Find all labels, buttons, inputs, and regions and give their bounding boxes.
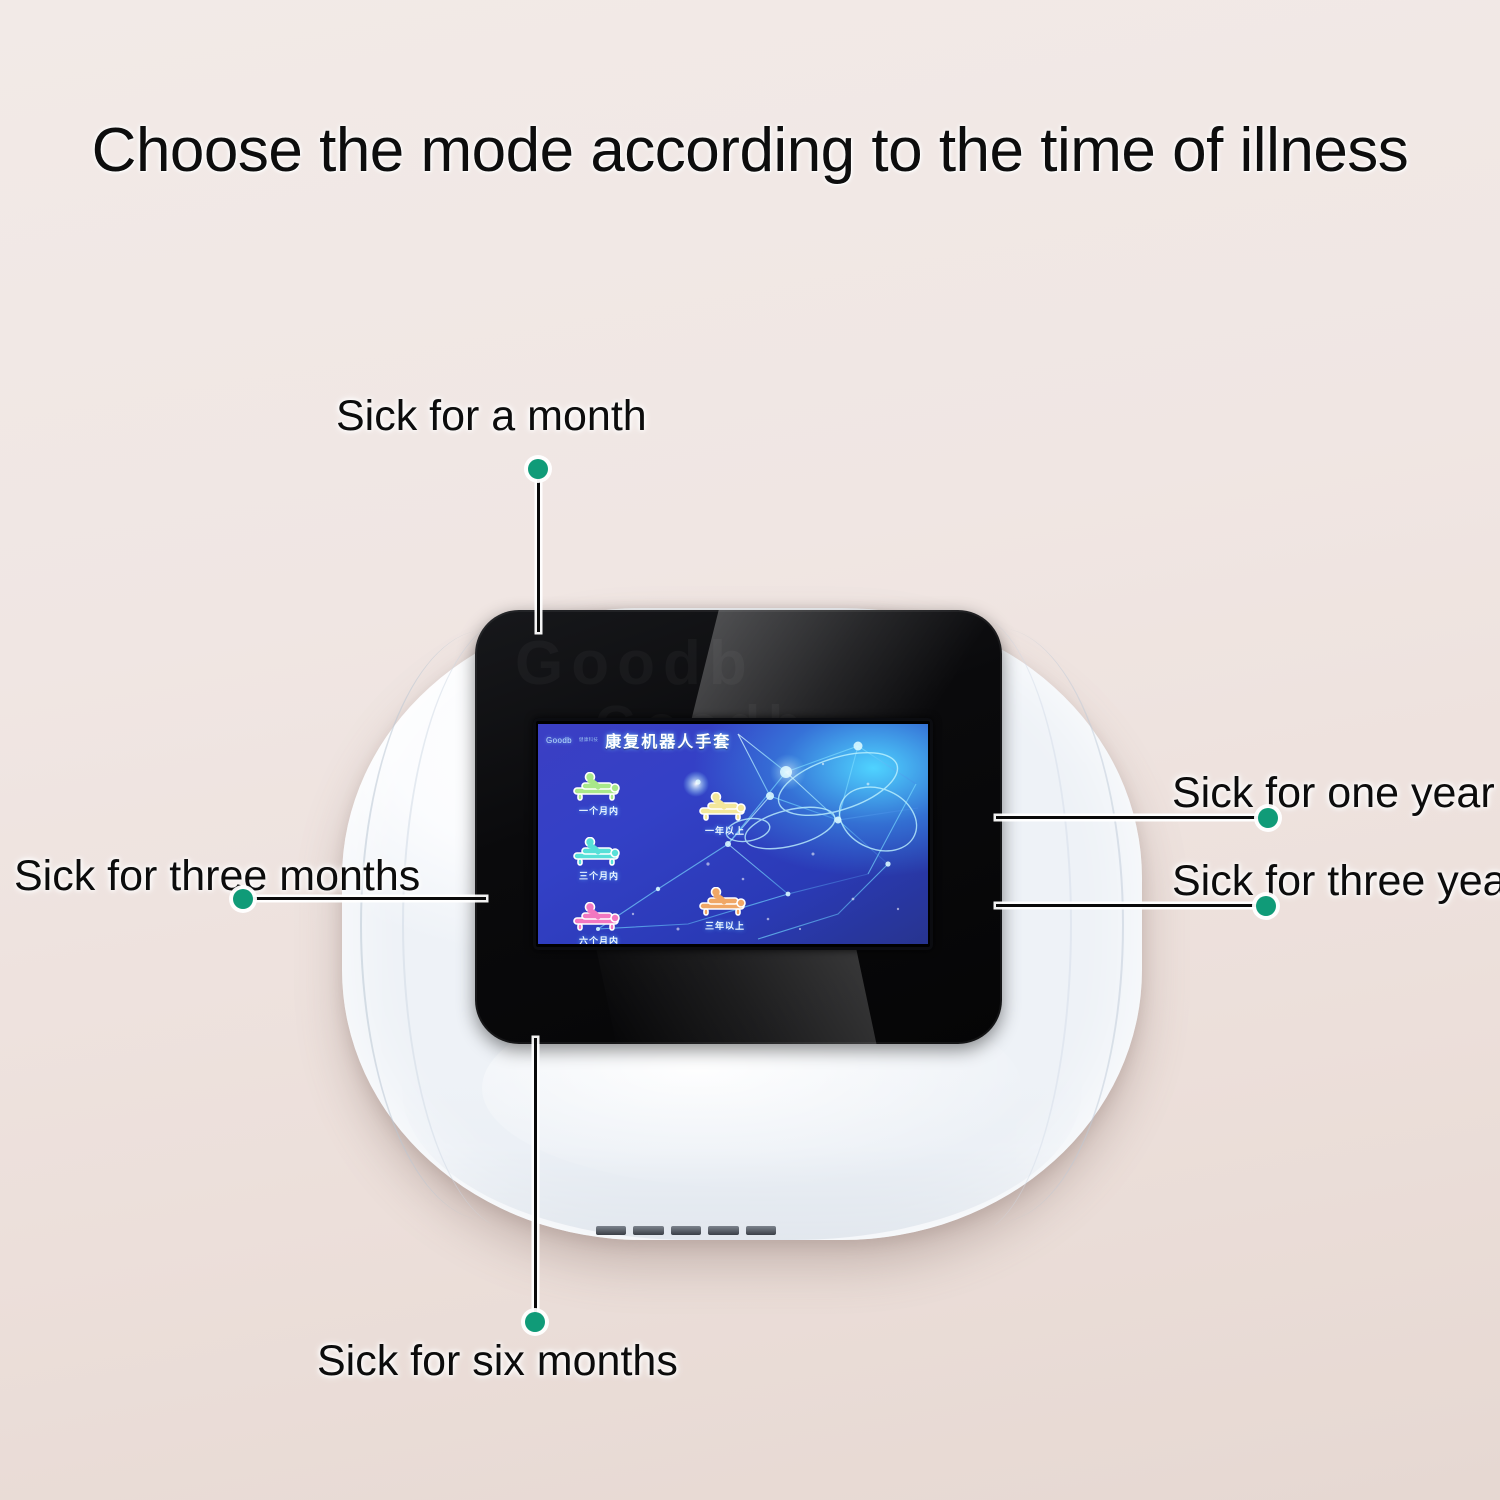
callout-dot-sick-one-year[interactable] xyxy=(1258,808,1278,828)
mode-column-left: 一个月内 xyxy=(560,772,638,944)
device-front-panel: Goodb Goodb xyxy=(475,610,1002,1044)
screenshot-root: Choose the mode according to the time of… xyxy=(0,0,1500,1500)
massage-bed-icon xyxy=(568,772,630,802)
mode-item-three-months[interactable]: 三个月内 xyxy=(560,837,638,882)
panel-watermark: Goodb xyxy=(515,628,975,699)
leader-line-sick-a-month xyxy=(537,472,540,632)
leader-line-sick-one-year xyxy=(996,816,1272,819)
lcd-bezel: Goodb 健康科技 康复机器人手套 xyxy=(533,718,933,950)
massage-bed-icon xyxy=(694,792,756,822)
mode-label: 三年以上 xyxy=(705,919,745,932)
callout-dot-sick-three-months[interactable] xyxy=(233,889,253,909)
lcd-title: 康复机器人手套 xyxy=(605,728,731,752)
lcd-screen[interactable]: Goodb 健康科技 康复机器人手套 xyxy=(538,724,928,944)
callout-dot-sick-three-years[interactable] xyxy=(1256,896,1276,916)
mode-label: 三个月内 xyxy=(579,869,619,882)
mode-column-right: 一年以上 xyxy=(686,792,764,932)
mode-label: 一年以上 xyxy=(705,824,745,837)
callout-dot-sick-a-month[interactable] xyxy=(528,459,548,479)
leader-line-sick-three-years xyxy=(996,904,1272,907)
callout-dot-sick-six-months[interactable] xyxy=(525,1312,545,1332)
callout-label-sick-a-month: Sick for a month xyxy=(336,395,647,438)
vent-slot xyxy=(708,1226,738,1235)
mode-item-one-month[interactable]: 一个月内 xyxy=(560,772,638,817)
leader-line-sick-six-months xyxy=(534,1038,537,1320)
massage-bed-icon xyxy=(694,887,756,917)
massage-bed-icon xyxy=(568,902,630,932)
lcd-header: Goodb 健康科技 康复机器人手套 xyxy=(546,728,731,752)
callout-label-sick-three-years: Sick for three years xyxy=(1172,860,1500,903)
mode-item-one-year[interactable]: 一年以上 xyxy=(686,792,764,837)
mode-item-six-months[interactable]: 六个月内 xyxy=(560,902,638,944)
vent-slot xyxy=(746,1226,776,1235)
vent-slot xyxy=(671,1226,701,1235)
device-illustration: Goodb Goodb xyxy=(342,608,1142,1240)
vent-slot xyxy=(633,1226,663,1235)
mode-item-three-years[interactable]: 三年以上 xyxy=(686,887,764,932)
device-vents xyxy=(596,1222,776,1235)
page-title: Choose the mode according to the time of… xyxy=(0,118,1500,183)
mode-label: 六个月内 xyxy=(579,934,619,944)
callout-label-sick-six-months: Sick for six months xyxy=(317,1340,678,1383)
mode-label: 一个月内 xyxy=(579,804,619,817)
callout-label-sick-three-months: Sick for three months xyxy=(14,855,420,898)
brand-subtitle: 健康科技 xyxy=(579,737,598,743)
callout-label-sick-one-year: Sick for one year xyxy=(1172,772,1495,815)
massage-bed-icon xyxy=(568,837,630,867)
vent-slot xyxy=(596,1226,626,1235)
brand-logo: Goodb xyxy=(546,736,572,745)
leader-line-sick-three-months xyxy=(246,897,486,900)
